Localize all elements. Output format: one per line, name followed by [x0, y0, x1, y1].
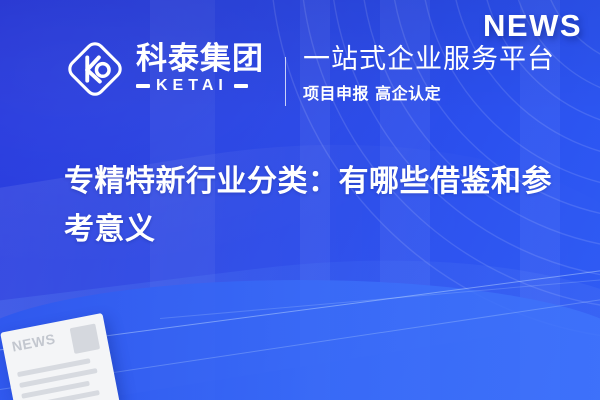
- image-placeholder-icon: [70, 323, 100, 353]
- header-divider: [285, 57, 286, 106]
- brand-header: 科泰集团 KETAI: [64, 38, 264, 100]
- company-name-cn: 科泰集团: [136, 44, 264, 76]
- brand-wordmark: 科泰集团 KETAI: [136, 44, 264, 95]
- newspaper-card-headline: NEWS: [11, 331, 57, 353]
- company-name-en-row: KETAI: [136, 78, 264, 94]
- ketai-diamond-k-icon: [64, 38, 126, 100]
- tagline-primary: 一站式企业服务平台: [303, 44, 555, 75]
- tagline-block: 一站式企业服务平台 项目申报 高企认定: [303, 44, 555, 104]
- article-title: 专精特新行业分类：有哪些借鉴和参考意义: [64, 158, 564, 254]
- company-name-en: KETAI: [156, 78, 228, 94]
- dash-icon-left: [136, 84, 150, 88]
- news-banner: NEWS 科泰集团 KETAI: [0, 0, 600, 400]
- dash-icon-right: [234, 84, 248, 88]
- tagline-secondary: 项目申报 高企认定: [303, 80, 555, 104]
- newspaper-card-text-lines: [17, 356, 111, 400]
- news-badge-label: NEWS: [483, 8, 582, 44]
